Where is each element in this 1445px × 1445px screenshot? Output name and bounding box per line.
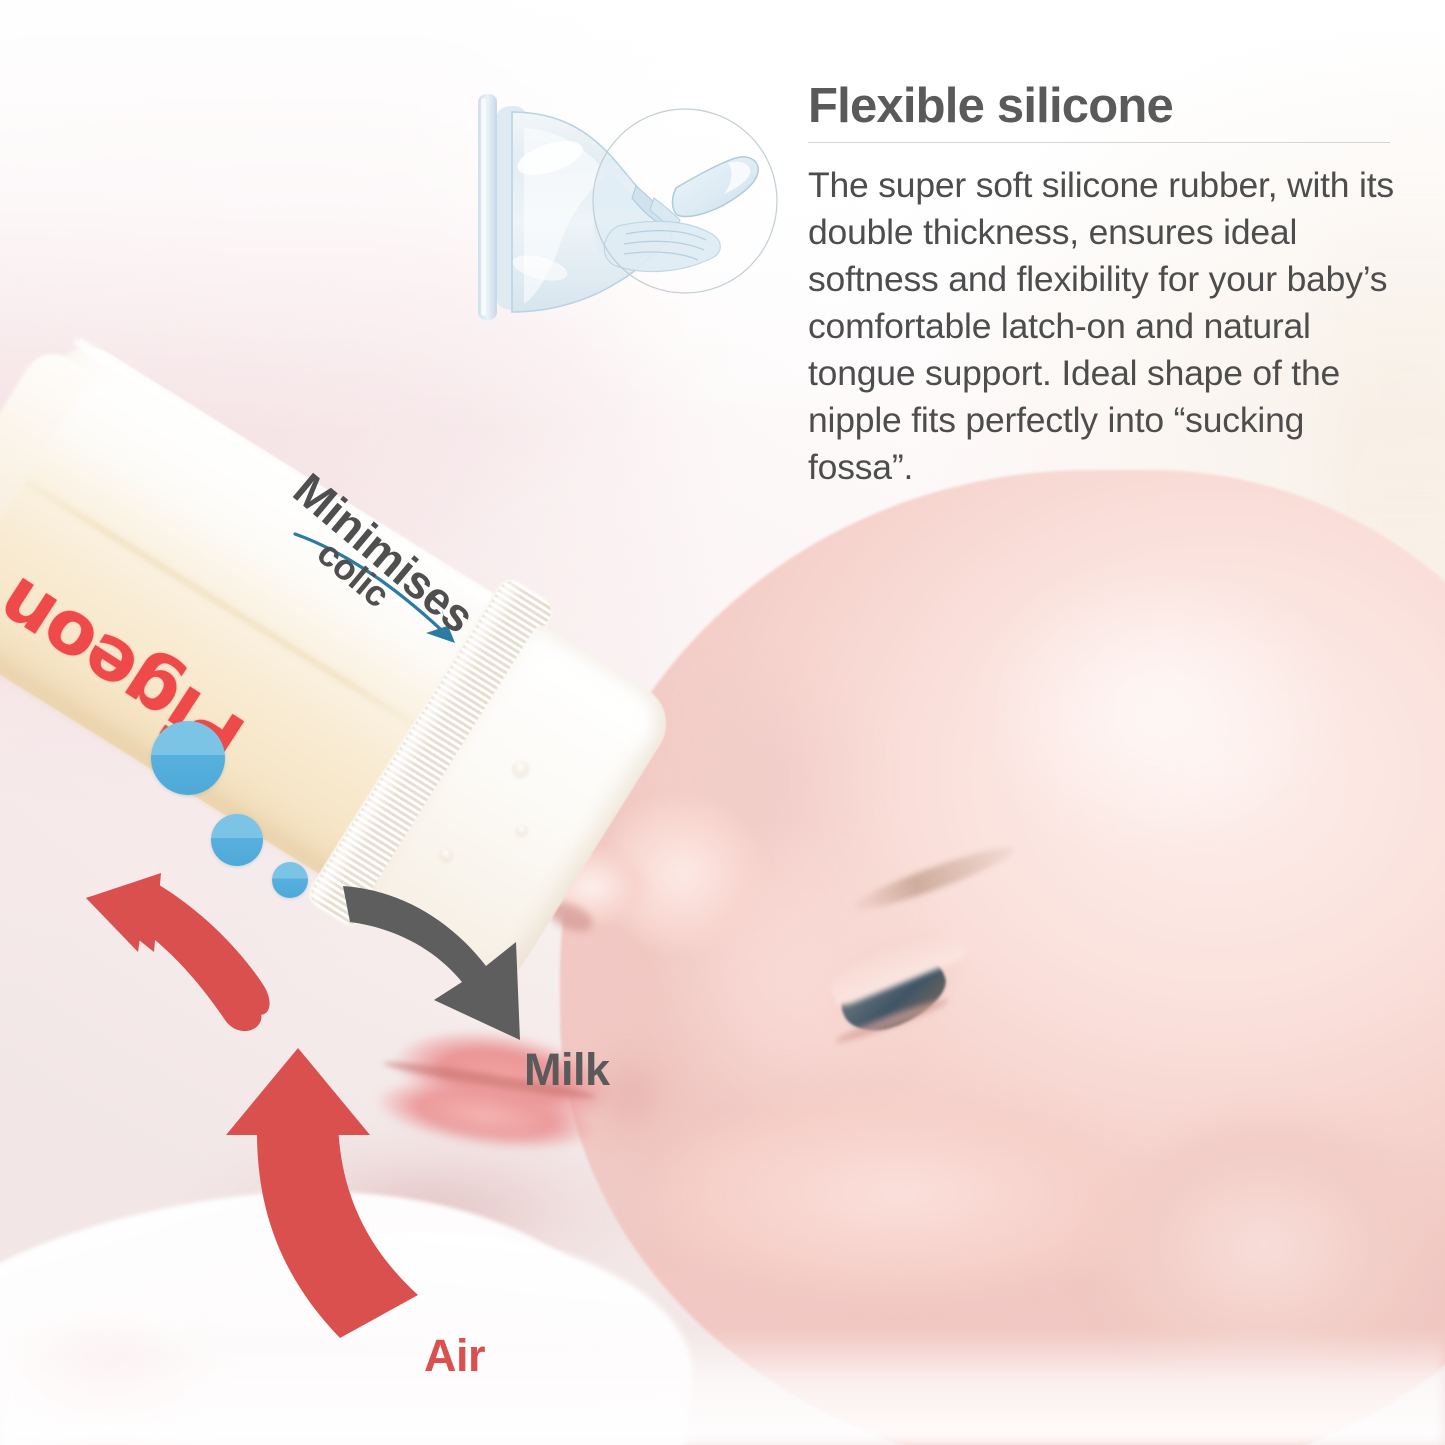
nipple-skirt	[604, 221, 720, 271]
panel-heading: Flexible silicone	[808, 78, 1173, 134]
infographic-canvas: Pigeon	[0, 0, 1445, 1445]
blanket-bottom-fade	[0, 1330, 1445, 1445]
callout-milk: Milk	[524, 1044, 610, 1096]
air-bubble-large	[151, 721, 225, 795]
callout-air: Air	[424, 1330, 485, 1382]
nipple-flange	[478, 94, 497, 320]
air-bubble-medium	[211, 814, 263, 866]
air-bubble-small	[272, 862, 308, 898]
panel-body-copy: The super soft silicone rubber, with its…	[808, 162, 1408, 491]
panel-divider	[808, 142, 1390, 143]
silicone-nipple-illustration	[440, 68, 790, 358]
